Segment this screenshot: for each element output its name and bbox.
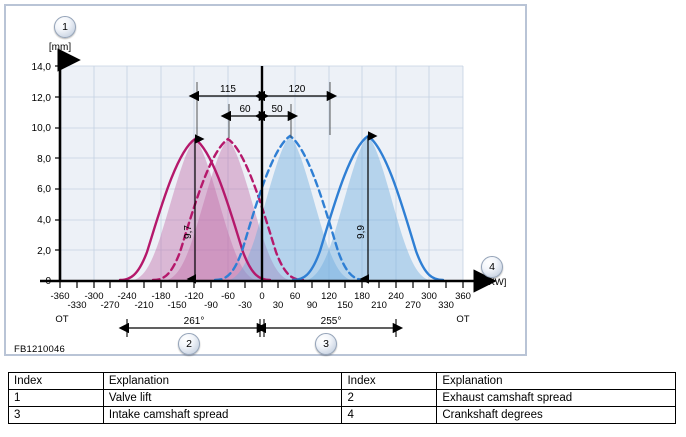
svg-text:9,7: 9,7: [183, 225, 194, 239]
cell-index: 1: [9, 390, 104, 407]
x-tick-270: 270: [405, 300, 421, 311]
x-tick--30: -30: [238, 300, 252, 311]
x-tick--90: -90: [204, 300, 218, 311]
x-tick-330: 330: [438, 300, 454, 311]
table-row: 1 Valve lift 2 Exhaust camshaft spread: [9, 390, 676, 407]
x-tick-180: 180: [354, 291, 370, 302]
y-tick-0: 0: [45, 276, 51, 287]
header-explanation-1: Explanation: [103, 373, 342, 390]
x-axis-tick-labels: -360 -330 -300 -270 -240 -210 -180 -150 …: [50, 291, 470, 311]
index-explanation-table: Index Explanation Index Explanation 1 Va…: [8, 372, 676, 424]
header-index-1: Index: [9, 373, 104, 390]
callout-bubble-1[interactable]: 1: [54, 16, 76, 38]
x-tick-60: 60: [290, 291, 301, 302]
svg-text:60: 60: [239, 104, 251, 115]
x-axis-unit-label: [°KW]: [482, 277, 506, 288]
y-tick-6: 6,0: [37, 184, 51, 195]
x-tick-360: 360: [455, 291, 471, 302]
svg-text:120: 120: [289, 84, 306, 95]
x-tick-0: 0: [259, 291, 264, 302]
cell-explanation: Intake camshaft spread: [103, 407, 342, 424]
figure-id-label: FB1210046: [14, 344, 65, 355]
svg-text:261°: 261°: [184, 316, 205, 327]
x-tick--120: -120: [184, 291, 203, 302]
y-tick-14: 14,0: [32, 62, 52, 73]
y-tick-10: 10,0: [32, 123, 52, 134]
cell-index: 2: [342, 390, 437, 407]
x-tick--60: -60: [221, 291, 235, 302]
y-tick-2: 2,0: [37, 246, 51, 257]
header-explanation-2: Explanation: [437, 373, 676, 390]
svg-text:9,9: 9,9: [356, 225, 367, 239]
cell-index: 3: [9, 407, 104, 424]
y-tick-12: 12,0: [32, 93, 52, 104]
callout-bubble-2[interactable]: 2: [178, 333, 200, 355]
cell-explanation: Valve lift: [103, 390, 342, 407]
x-tick-240: 240: [388, 291, 404, 302]
table-row: 3 Intake camshaft spread 4 Crankshaft de…: [9, 407, 676, 424]
svg-text:50: 50: [271, 104, 283, 115]
header-index-2: Index: [342, 373, 437, 390]
cell-explanation: Exhaust camshaft spread: [437, 390, 676, 407]
y-axis-tick-labels: 0 2,0 4,0 6,0 8,0 10,0 12,0 14,0: [32, 62, 52, 287]
tdc-label-left: OT: [55, 314, 68, 325]
cell-explanation: Crankshaft degrees: [437, 407, 676, 424]
tdc-label-right: OT: [456, 314, 469, 325]
callout-bubble-3[interactable]: 3: [315, 333, 337, 355]
svg-text:115: 115: [220, 84, 236, 95]
callout-bubble-4[interactable]: 4: [481, 256, 503, 278]
x-tick-90: 90: [307, 300, 318, 311]
x-tick-210: 210: [371, 300, 387, 311]
x-tick-30: 30: [273, 300, 284, 311]
x-tick-300: 300: [421, 291, 437, 302]
x-tick-120: 120: [321, 291, 337, 302]
y-tick-4: 4,0: [37, 215, 51, 226]
y-tick-8: 8,0: [37, 154, 51, 165]
table-header-row: Index Explanation Index Explanation: [9, 373, 676, 390]
y-axis-unit-label: [mm]: [49, 42, 71, 53]
cell-index: 4: [342, 407, 437, 424]
svg-text:255°: 255°: [321, 316, 342, 327]
x-tick-150: 150: [337, 300, 353, 311]
